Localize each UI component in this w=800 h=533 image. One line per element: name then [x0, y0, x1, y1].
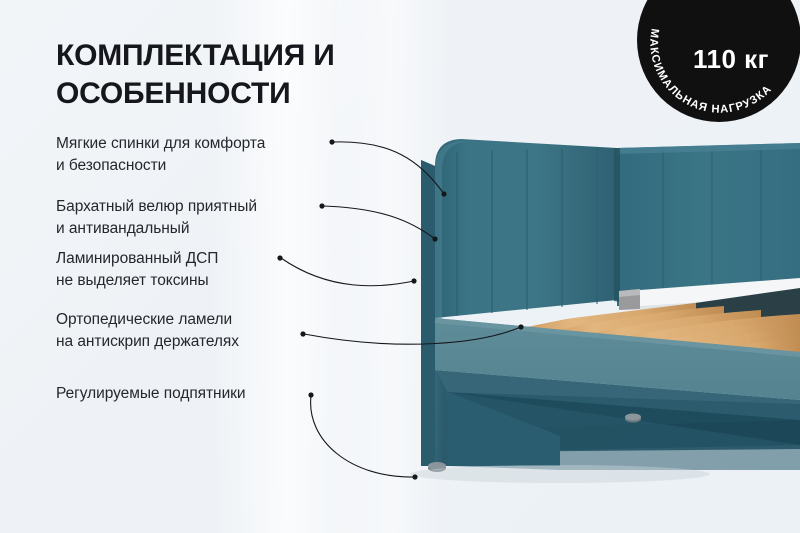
max-load-badge: МАКСИМАЛЬНАЯ НАГРУЗКА 110 кг [637, 0, 800, 122]
adjustable-foot-right-top [625, 414, 641, 421]
feature-label-orthopedic-slats: Ортопедические ламели на антискрип держа… [56, 309, 239, 354]
feature-label-velvet: Бархатный велюр приятный и антивандальны… [56, 196, 257, 241]
infographic-canvas: КОМПЛЕКТАЦИЯ И ОСОБЕННОСТИ МАКСИМАЛЬНАЯ … [0, 0, 800, 533]
floor-shadow [410, 465, 710, 483]
feature-label-laminated-chipboard: Ламинированный ДСП не выделяет токсины [56, 248, 218, 293]
headboard-corner-seam [614, 148, 620, 302]
page-title: КОМПЛЕКТАЦИЯ И ОСОБЕННОСТИ [56, 37, 386, 113]
max-load-value: 110 кг [637, 0, 800, 122]
feature-label-soft-backrests: Мягкие спинки для комфорта и безопасност… [56, 133, 265, 178]
bed-headboard-front [435, 139, 617, 318]
feature-label-adjustable-feet: Регулируемые подпятники [56, 383, 246, 405]
side-panel-edge [421, 160, 435, 466]
